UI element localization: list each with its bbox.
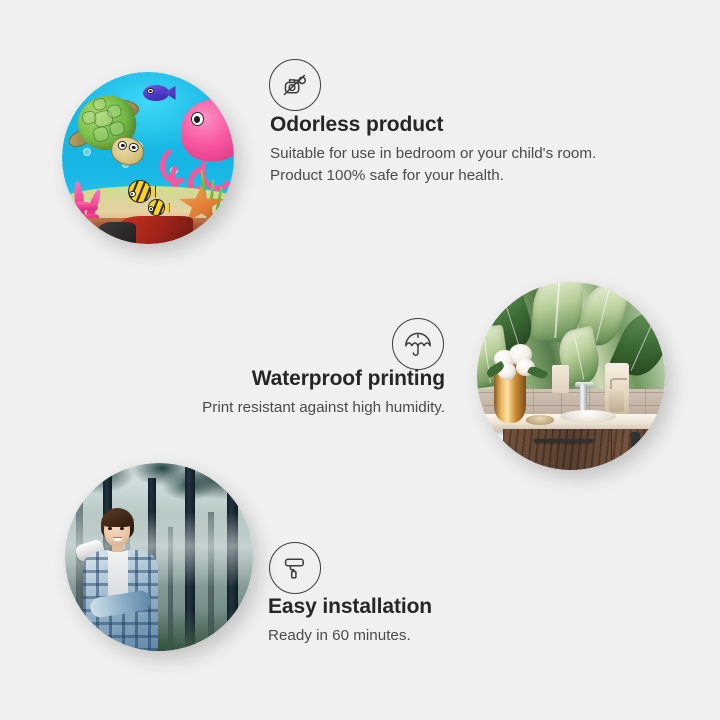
feature-block-odorless: Odorless product Suitable for use in bed… bbox=[270, 112, 610, 186]
no-smell-perfume-icon bbox=[269, 59, 321, 111]
dark-furniture-shape bbox=[98, 222, 136, 244]
forest-photo-inner bbox=[65, 463, 253, 651]
underwater-photo-inner bbox=[62, 72, 234, 244]
turtle-pupil-left bbox=[121, 144, 125, 148]
feature-block-waterproof: Waterproof printing Print resistant agai… bbox=[155, 366, 445, 419]
striped-fish-pupil bbox=[150, 208, 152, 210]
paint-roller-icon bbox=[269, 542, 321, 594]
leaf-vein bbox=[502, 296, 519, 344]
leaf-vein bbox=[573, 333, 584, 380]
woman-figure bbox=[73, 508, 182, 651]
blue-fish-pupil bbox=[149, 90, 151, 92]
striped-fish bbox=[146, 199, 168, 216]
shell-scute bbox=[91, 126, 109, 143]
soap-dispenser bbox=[609, 389, 624, 412]
faucet-spout bbox=[580, 384, 586, 412]
paint-roller-glyph bbox=[279, 552, 311, 584]
feature-showcase: Odorless product Suitable for use in bed… bbox=[0, 0, 720, 720]
leaf-vein bbox=[596, 289, 611, 342]
wood-grain-texture bbox=[503, 429, 665, 470]
no-smell-perfume-glyph bbox=[278, 68, 312, 102]
drawer-handle bbox=[534, 439, 593, 441]
underwater-cartoon-wallpaper-photo bbox=[62, 72, 234, 244]
door-handle bbox=[631, 432, 640, 454]
turtle-pupil-right bbox=[132, 146, 136, 150]
striped-fish-eye bbox=[148, 206, 154, 212]
feature-block-installation: Easy installation Ready in 60 minutes. bbox=[268, 594, 568, 647]
sink-basin bbox=[560, 410, 616, 423]
umbrella-glyph bbox=[402, 328, 434, 360]
shell-scute bbox=[108, 120, 126, 137]
candle bbox=[552, 365, 569, 393]
shell-scute bbox=[106, 103, 123, 119]
bathroom-photo-inner bbox=[477, 282, 665, 470]
feature-title-installation: Easy installation bbox=[268, 594, 568, 620]
wood-vanity-cabinet bbox=[503, 429, 665, 470]
sea-turtle bbox=[74, 94, 167, 177]
octopus-head bbox=[181, 100, 234, 162]
feature-description-installation: Ready in 60 minutes. bbox=[268, 625, 568, 647]
woman-smile bbox=[113, 537, 122, 541]
feature-description-odorless: Suitable for use in bedroom or your chil… bbox=[270, 143, 610, 186]
umbrella-icon bbox=[392, 318, 444, 370]
feature-title-odorless: Odorless product bbox=[270, 112, 610, 138]
feature-description-waterproof: Print resistant against high humidity. bbox=[155, 397, 445, 419]
feature-title-waterproof: Waterproof printing bbox=[155, 366, 445, 392]
woman-with-paint-roller-forest-wallpaper-photo bbox=[65, 463, 253, 651]
soap-dish bbox=[526, 415, 554, 424]
striped-fish-pupil bbox=[131, 193, 133, 195]
striped-fish-eye bbox=[129, 191, 136, 198]
leaf-vein bbox=[555, 282, 560, 338]
cabinet-seam bbox=[611, 429, 613, 470]
turtle-head bbox=[109, 135, 147, 168]
turtle-eye-right bbox=[129, 142, 140, 152]
bathroom-tropical-leaf-wallpaper-photo bbox=[477, 282, 665, 470]
woman-hair-fringe bbox=[102, 514, 131, 527]
leaf-vein bbox=[630, 318, 654, 370]
turtle-eye-left bbox=[117, 141, 128, 151]
